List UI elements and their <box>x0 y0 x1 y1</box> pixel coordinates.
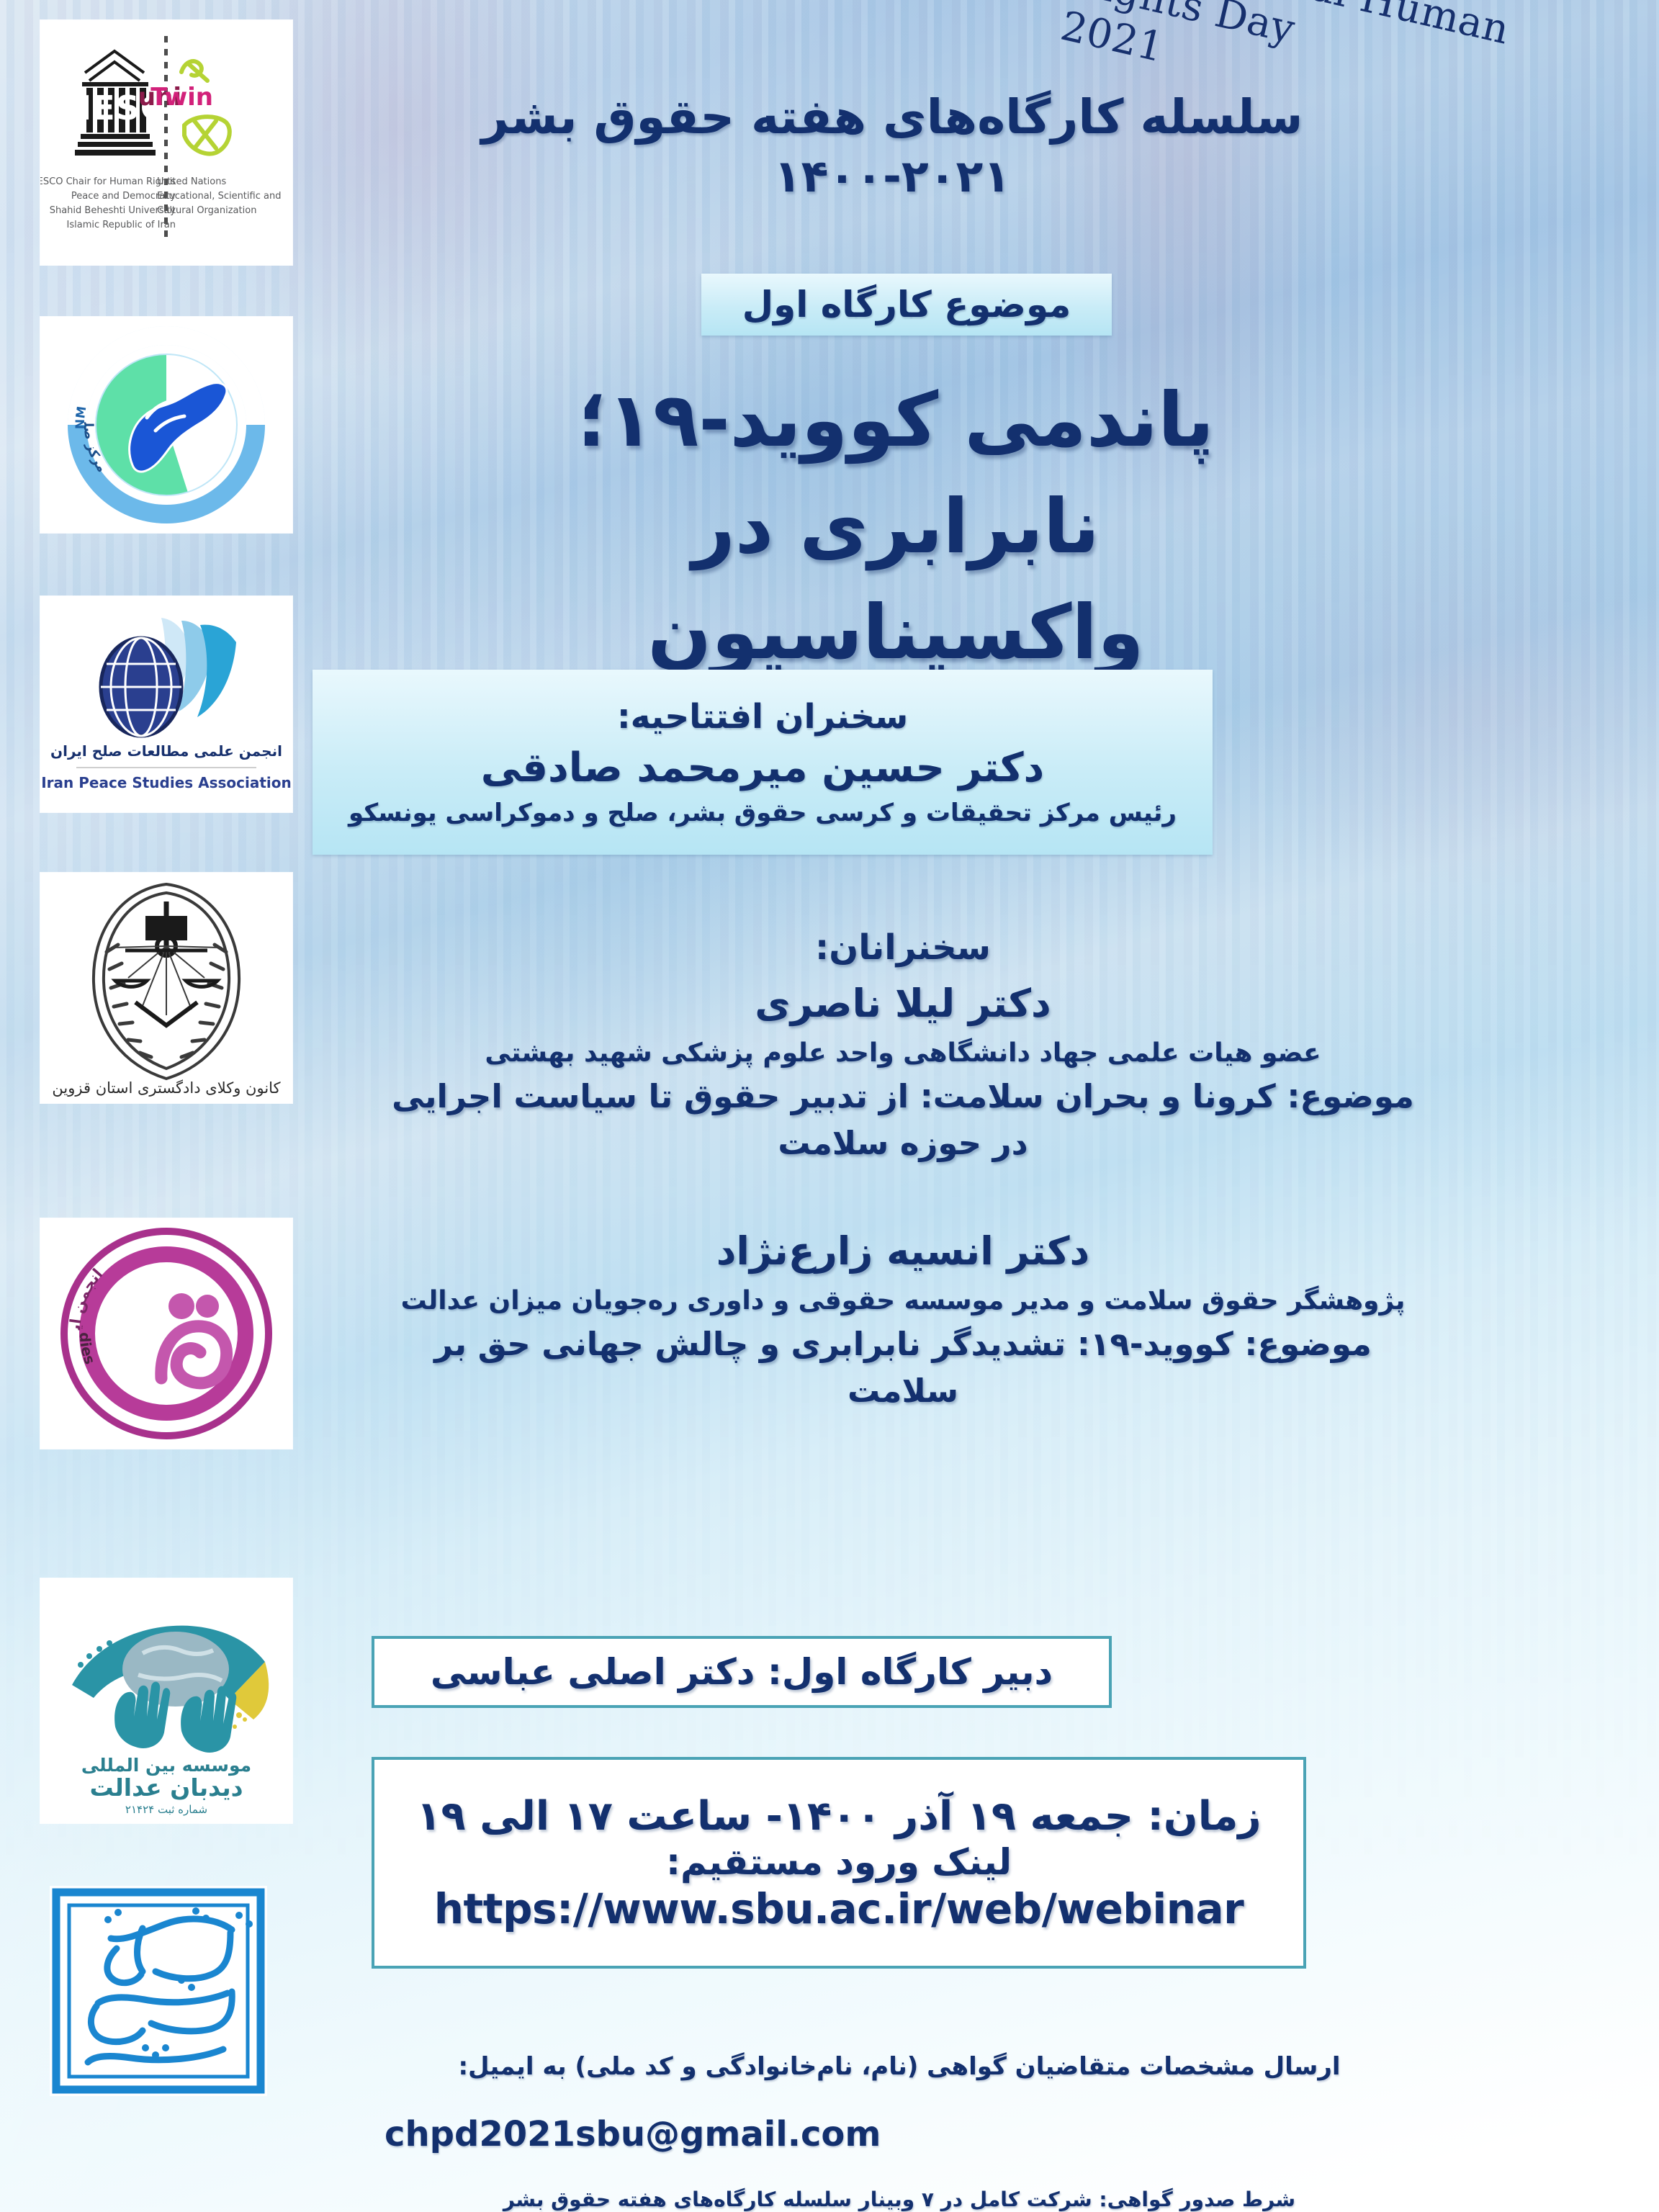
svg-text:Peace and Democracy: Peace and Democracy <box>71 191 176 202</box>
eye-hands-globe-icon: موسسه بین المللی دیدبان عدالت شماره ثبت … <box>40 1578 292 1823</box>
footer: ارسال مشخصات متقاضیان گواهی (نام، نام‌خا… <box>305 2049 1493 2211</box>
opening-speaker-band: سخنران افتتاحیه: دکتر حسین میرمحمد صادقی… <box>313 670 1213 855</box>
series-years: ۱۴۰۰-۲۰۲۱ <box>464 150 1321 202</box>
logo-justice-watch-institute: موسسه بین المللی دیدبان عدالت شماره ثبت … <box>40 1578 292 1823</box>
speaker-name: دکتر لیلا ناصری <box>392 974 1414 1034</box>
main-title-line1: پاندمی کووید-۱۹؛ <box>442 367 1349 474</box>
event-time: زمان: جمعه ۱۹ آذر ۱۴۰۰- ساعت ۱۷ الی ۱۹ <box>416 1793 1261 1840</box>
sbu-calligraphy-icon <box>50 1887 266 2095</box>
series-title: سلسله کارگاه‌های هفته حقوق بشر <box>464 85 1321 149</box>
svg-text:Iran Peace Studies Association: Iran Peace Studies Association <box>41 774 292 791</box>
speaker-entry: دکتر لیلا ناصری عضو هیات علمی جهاد دانشگ… <box>392 974 1414 1166</box>
speaker-spacer <box>392 1166 1414 1221</box>
svg-text:Shahid Beheshti University: Shahid Beheshti University <box>50 205 176 216</box>
opening-speaker-name: دکتر حسین میرمحمد صادقی <box>481 743 1045 793</box>
logo-unesco-unitwin: UNESCO uni Twin United Nations Education… <box>40 20 292 265</box>
logo-qazvin-bar-association: کانون وکلای دادگستری استان قزوین <box>40 873 292 1103</box>
speaker-topic-line2: سلامت <box>392 1367 1414 1414</box>
speakers-section: سخنرانان: دکتر لیلا ناصری عضو هیات علمی … <box>392 922 1414 1414</box>
svg-text:UNESCO Chair for Human Rights,: UNESCO Chair for Human Rights, <box>40 176 176 187</box>
logo-iranian-womens-studies: انجمن ایرانی مطالعات زنان Iranian Associ… <box>40 1218 292 1449</box>
speakers-heading: سخنرانان: <box>392 922 1414 974</box>
opening-speaker-affiliation: رئیس مرکز تحقیقات و کرسی حقوق بشر، صلح و… <box>349 798 1177 829</box>
svg-text:دیدبان عدالت: دیدبان عدالت <box>89 1773 243 1802</box>
certificate-request-text: ارسال مشخصات متقاضیان گواهی (نام، نام‌خا… <box>305 2049 1493 2085</box>
workshop-secretary-box: دبیر کارگاه اول: دکتر اصلی عباسی <box>372 1636 1112 1708</box>
link-label: لینک ورود مستقیم: <box>666 1841 1012 1883</box>
speaker-affiliation: پژوهشگر حقوق سلامت و مدیر موسسه حقوقی و … <box>392 1282 1414 1321</box>
svg-text:کانون وکلای دادگستری استان قزو: کانون وکلای دادگستری استان قزوین <box>52 1079 280 1097</box>
speaker-topic-line2: در حوزه سلامت <box>392 1120 1414 1166</box>
speaker-affiliation: عضو هیات علمی جهاد دانشگاهی واحد علوم پز… <box>392 1034 1414 1073</box>
certificate-condition-text: شرط صدور گواهی: شرکت کامل در ۷ وبینار سل… <box>305 2188 1493 2211</box>
logo-iran-peace-studies: انجمن علمی مطالعات صلح ایران Iran Peace … <box>40 596 292 812</box>
speaker-topic-line1: موضوع: کووید-۱۹: تشدیدگر نابرابری و چالش… <box>392 1321 1414 1367</box>
scales-wreath-icon: کانون وکلای دادگستری استان قزوین <box>40 873 292 1103</box>
page-title: پاندمی کووید-۱۹؛ نابرابری در واکسیناسیون <box>442 367 1349 686</box>
logo-shahid-beheshti-university <box>50 1887 266 2095</box>
webinar-url[interactable]: https://www.sbu.ac.ir/web/webinar <box>434 1884 1244 1933</box>
speaker-name: دکتر انسیه زارع‌نژاد <box>392 1221 1414 1282</box>
globe-dove-icon: انجمن علمی مطالعات صلح ایران Iran Peace … <box>40 596 292 812</box>
logo-center-peace-environment: CENTER FOR PEACE AND ENVIRONM مرکز صلح و… <box>40 317 292 533</box>
unesco-temple-icon: UNESCO uni Twin United Nations Education… <box>40 20 292 265</box>
women-figures-circle-icon: انجمن ایرانی مطالعات زنان Iranian Associ… <box>40 1218 292 1449</box>
sponsor-logo-rail: UNESCO uni Twin United Nations Education… <box>0 0 317 2212</box>
time-and-link-box: زمان: جمعه ۱۹ آذر ۱۴۰۰- ساعت ۱۷ الی ۱۹ ل… <box>372 1757 1306 1969</box>
opening-speaker-label: سخنران افتتاحیه: <box>617 696 908 739</box>
svg-text:انجمن علمی مطالعات صلح ایران: انجمن علمی مطالعات صلح ایران <box>50 742 282 760</box>
main-title-line2: نابرابری در واکسیناسیون <box>442 474 1349 686</box>
poster-content: International Human Rights Day 2021 سلسل… <box>313 0 1659 2212</box>
poster-canvas: UNESCO uni Twin United Nations Education… <box>0 0 1659 2212</box>
svg-text:شماره ثبت ۲۱۴۲۴: شماره ثبت ۲۱۴۲۴ <box>125 1803 207 1816</box>
contact-email[interactable]: chpd2021sbu@gmail.com <box>305 2114 1493 2154</box>
svg-text:Twin: Twin <box>150 83 213 112</box>
svg-text:Islamic Republic of Iran: Islamic Republic of Iran <box>67 220 176 230</box>
speaker-topic-line1: موضوع: کرونا و بحران سلامت: از تدبیر حقو… <box>392 1073 1414 1120</box>
workshop-topic-band: موضوع کارگاه اول <box>701 274 1112 336</box>
speaker-entry: دکتر انسیه زارع‌نژاد پژوهشگر حقوق سلامت … <box>392 1221 1414 1414</box>
dove-hand-globe-icon: CENTER FOR PEACE AND ENVIRONM مرکز صلح و… <box>40 317 292 533</box>
